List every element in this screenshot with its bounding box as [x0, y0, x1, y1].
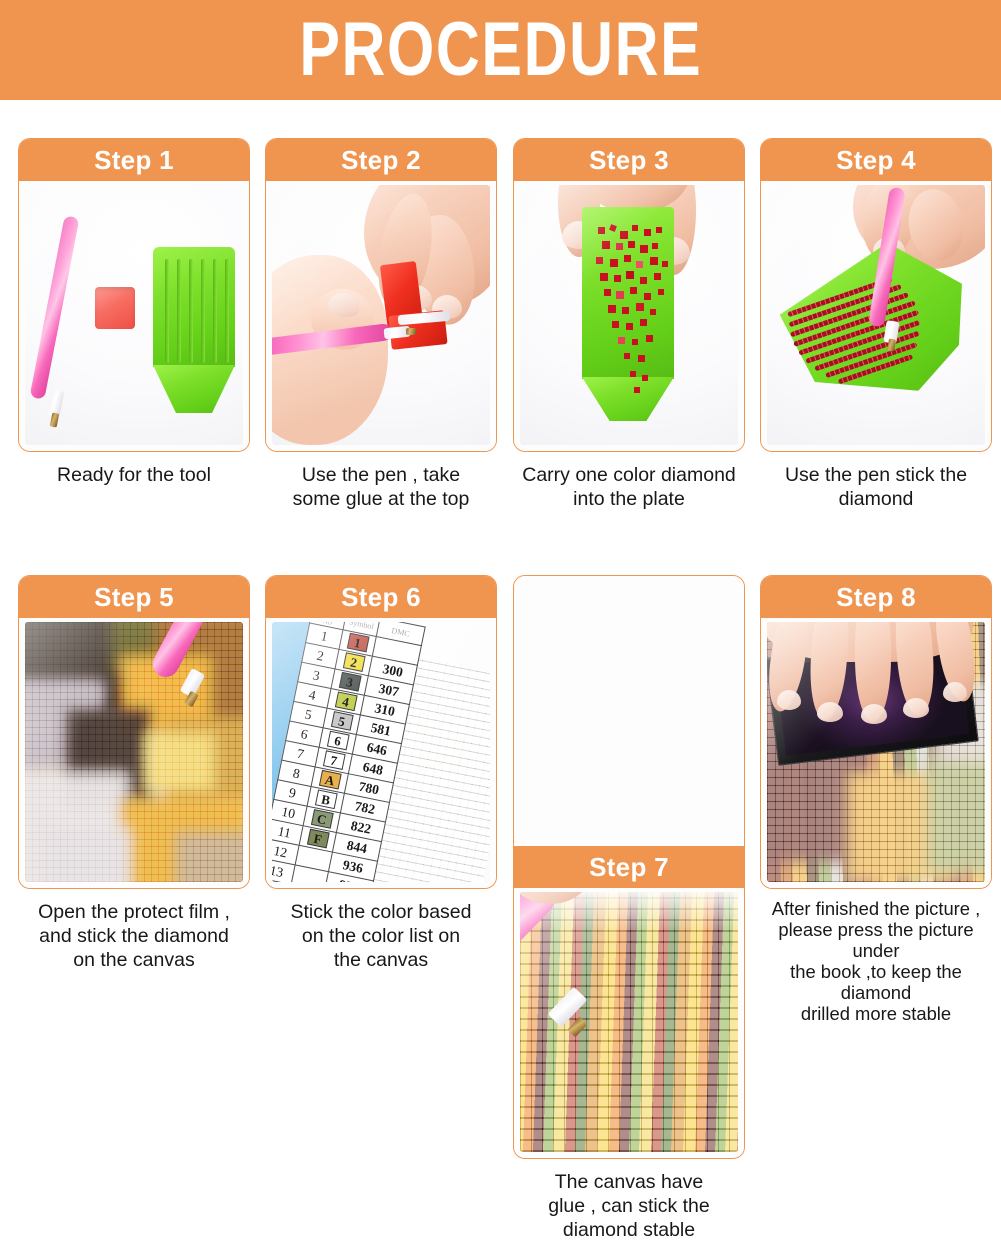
- step-cell-6: Step 6 Serial No Symbol DMC: [265, 575, 497, 972]
- step-badge-1: Step 1: [19, 139, 249, 181]
- step-cell-7: Step 7 The canvas have glue , can stic: [513, 575, 745, 1242]
- symbol-swatch: 1: [346, 633, 369, 653]
- symbol-swatch: C: [310, 809, 333, 829]
- step-caption-8: After finished the picture , please pres…: [760, 899, 992, 1025]
- step-card-4: Step 4: [760, 138, 992, 452]
- pen-taking-glue-photo: [266, 181, 496, 451]
- page-title: PROCEDURE: [299, 12, 702, 88]
- step-cell-2: Step 2: [265, 138, 497, 512]
- step-card-1: Step 1: [18, 138, 250, 452]
- diamonds-in-tray-photo: [514, 181, 744, 451]
- step-card-7: Step 7: [513, 575, 745, 1159]
- page-header: PROCEDURE: [0, 0, 1001, 100]
- step-cell-4: Step 4: [760, 138, 992, 512]
- pressing-with-book-photo: [761, 618, 991, 888]
- symbol-swatch: 6: [326, 731, 349, 751]
- step-badge-6: Step 6: [266, 576, 496, 618]
- symbol-swatch: 5: [330, 711, 353, 731]
- step-caption-7: The canvas have glue , can stick the dia…: [513, 1171, 745, 1242]
- symbol-swatch: 3: [338, 672, 361, 692]
- steps-grid: Step 1: [0, 100, 1001, 1001]
- step-cell-3: Step 3: [513, 138, 745, 512]
- step-caption-3: Carry one color diamond into the plate: [513, 464, 745, 512]
- symbol-swatch: 7: [322, 750, 345, 770]
- pen-picking-diamond-photo: [761, 181, 991, 451]
- step-badge-2: Step 2: [266, 139, 496, 181]
- step-cell-1: Step 1: [18, 138, 250, 488]
- step-badge-3: Step 3: [514, 139, 744, 181]
- step-badge-7: Step 7: [514, 846, 744, 888]
- step-badge-5: Step 5: [19, 576, 249, 618]
- symbol-swatch: 2: [342, 652, 365, 672]
- step-caption-6: Stick the color based on the color list …: [265, 901, 497, 972]
- step-badge-8: Step 8: [761, 576, 991, 618]
- step-card-3: Step 3: [513, 138, 745, 452]
- step-card-6: Step 6 Serial No Symbol DMC: [265, 575, 497, 889]
- step-card-2: Step 2: [265, 138, 497, 452]
- color-chart-photo: Serial No Symbol DMC 1122300333074431055…: [266, 618, 496, 888]
- symbol-swatch: A: [318, 770, 341, 790]
- step-caption-5: Open the protect film , and stick the di…: [18, 901, 250, 972]
- step-cell-8: Step 8: [760, 575, 992, 1025]
- symbol-swatch: F: [306, 829, 329, 849]
- tools-overview-photo: [19, 181, 249, 451]
- step-caption-4: Use the pen stick the diamond: [760, 464, 992, 512]
- step-caption-2: Use the pen , take some glue at the top: [265, 464, 497, 512]
- symbol-swatch: B: [314, 789, 337, 809]
- sunflower-canvas-photo: [19, 618, 249, 888]
- step-card-5: Step 5: [18, 575, 250, 889]
- step-card-8: Step 8: [760, 575, 992, 889]
- step-caption-1: Ready for the tool: [18, 464, 250, 488]
- step-cell-5: Step 5: [18, 575, 250, 972]
- round-beads-macro-photo: [514, 576, 744, 846]
- symbol-swatch: 4: [334, 691, 357, 711]
- step-badge-4: Step 4: [761, 139, 991, 181]
